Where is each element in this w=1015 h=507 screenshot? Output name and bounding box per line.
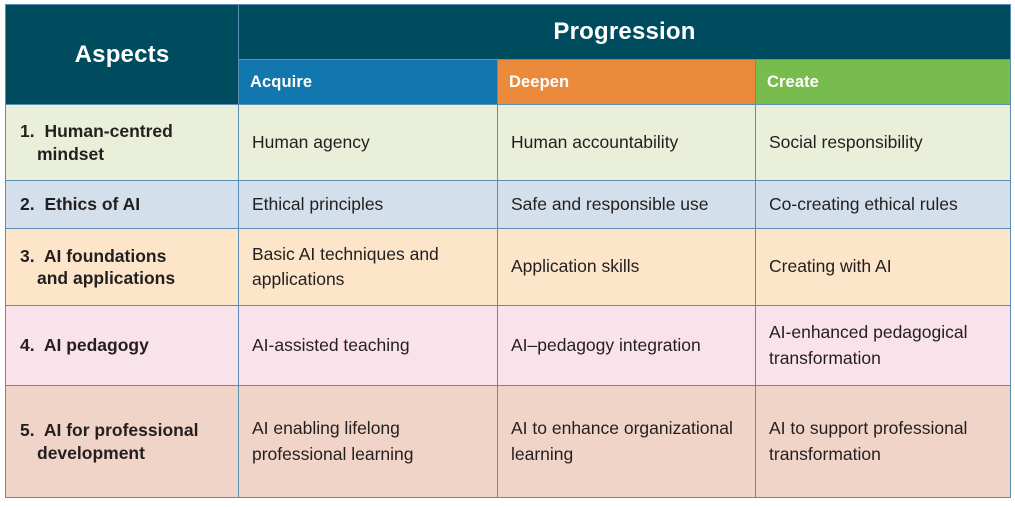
row-number: 5. [20, 420, 35, 440]
row-aspect-label: 2. Ethics of AI [6, 181, 239, 229]
cell-create: Creating with AI [756, 229, 1011, 306]
table-row: 3. AI foundations and applications Basic… [6, 229, 1011, 306]
table-figure: Aspects Progression Acquire Deepen Creat… [0, 0, 1015, 507]
header-aspects: Aspects [6, 5, 239, 105]
row-number: 3. [20, 246, 35, 266]
row-aspect-line1: AI for professional [44, 420, 199, 440]
table-row: 4. AI pedagogy AI-assisted teaching AI–p… [6, 306, 1011, 386]
header-progression: Progression [239, 5, 1011, 60]
ai-competency-matrix-table: Aspects Progression Acquire Deepen Creat… [5, 4, 1011, 498]
row-aspect-line1: AI pedagogy [44, 335, 149, 355]
row-aspect-label: 4. AI pedagogy [6, 306, 239, 386]
table-row: 1. Human-centred mindset Human agency Hu… [6, 105, 1011, 181]
table-row: 5. AI for professional development AI en… [6, 386, 1011, 498]
row-aspect-line2: development [20, 442, 228, 464]
cell-acquire: AI-assisted teaching [239, 306, 498, 386]
cell-create: AI-enhanced pedagogical transformation [756, 306, 1011, 386]
cell-acquire: Human agency [239, 105, 498, 181]
cell-create: Co-creating ethical rules [756, 181, 1011, 229]
cell-acquire: AI enabling lifelong professional learni… [239, 386, 498, 498]
header-column-acquire: Acquire [239, 60, 498, 105]
cell-acquire: Ethical principles [239, 181, 498, 229]
row-aspect-label: 5. AI for professional development [6, 386, 239, 498]
row-number: 2. [20, 194, 35, 214]
header-column-deepen: Deepen [498, 60, 756, 105]
cell-deepen: AI–pedagogy integration [498, 306, 756, 386]
row-aspect-line1: Human-centred [44, 121, 172, 141]
row-aspect-line1: Ethics of AI [44, 194, 140, 214]
row-number: 4. [20, 335, 35, 355]
row-aspect-line2: and applications [20, 267, 228, 289]
row-aspect-line2: mindset [20, 143, 228, 165]
row-aspect-label: 1. Human-centred mindset [6, 105, 239, 181]
cell-create: AI to support professional transformatio… [756, 386, 1011, 498]
table-header-row-top: Aspects Progression [6, 5, 1011, 60]
cell-deepen: Safe and responsible use [498, 181, 756, 229]
cell-create: Social responsibility [756, 105, 1011, 181]
row-aspect-line1: AI foundations [44, 246, 166, 266]
row-aspect-label: 3. AI foundations and applications [6, 229, 239, 306]
cell-deepen: Application skills [498, 229, 756, 306]
table-row: 2. Ethics of AI Ethical principles Safe … [6, 181, 1011, 229]
header-column-create: Create [756, 60, 1011, 105]
row-number: 1. [20, 121, 35, 141]
cell-deepen: Human accountability [498, 105, 756, 181]
cell-acquire: Basic AI techniques and applications [239, 229, 498, 306]
cell-deepen: AI to enhance organizational learning [498, 386, 756, 498]
